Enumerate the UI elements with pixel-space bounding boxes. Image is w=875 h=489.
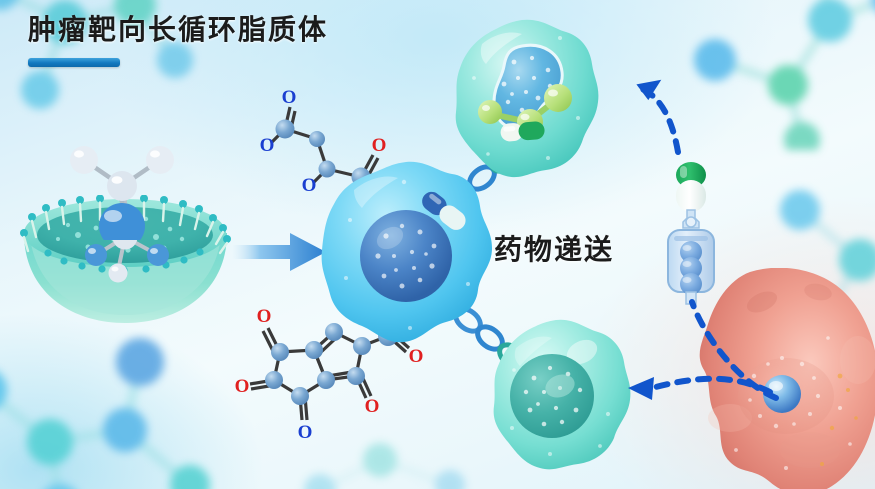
title-accent-rule [28, 58, 120, 67]
illustration-canvas: O O O O N [0, 0, 875, 489]
dashed-path-upper [640, 88, 678, 152]
drug-delivery-label: 药物递送 [494, 228, 614, 268]
delivery-path-arrows [0, 0, 875, 489]
arrowhead-upper [634, 76, 661, 101]
page-title: 肿瘤靶向长循环脂质体 [28, 16, 328, 44]
dashed-path-to-pack [692, 302, 776, 398]
arrowhead-lower [628, 377, 654, 400]
title-block: 肿瘤靶向长循环脂质体 [28, 16, 328, 67]
